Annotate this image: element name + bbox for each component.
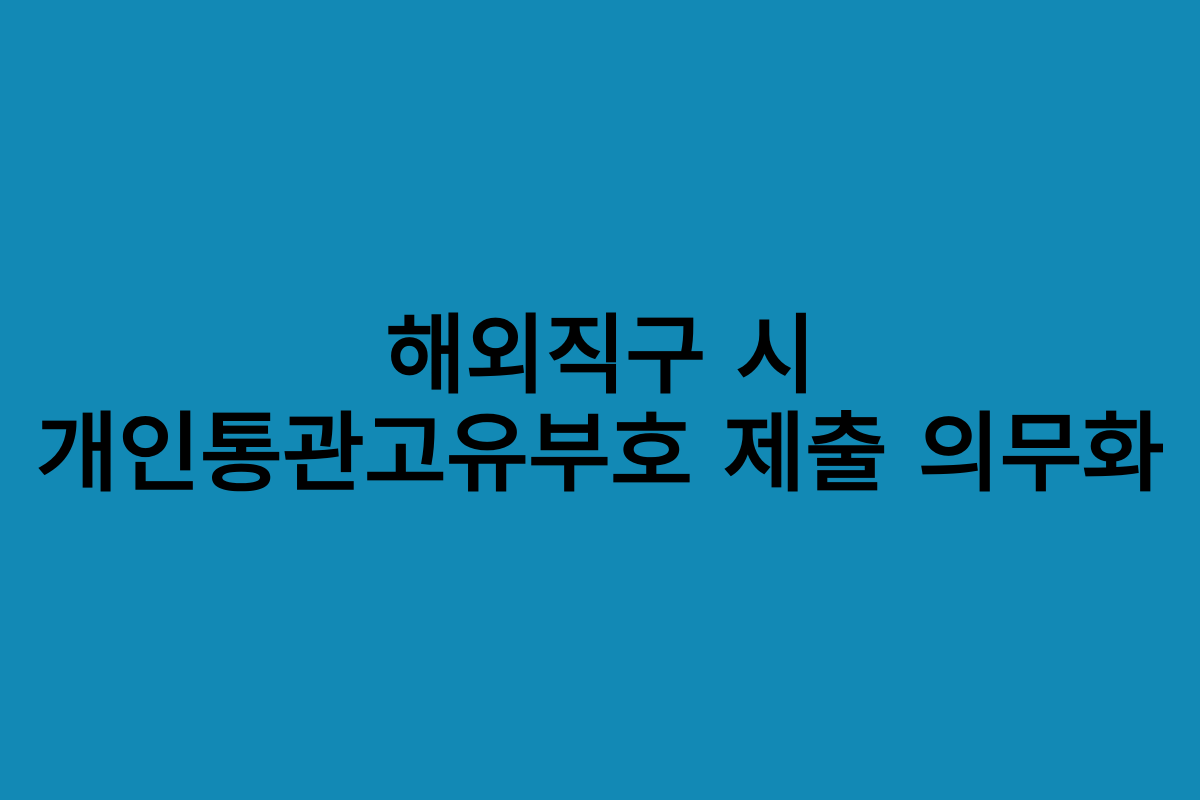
banner-canvas: 해외직구 시 개인통관고유부호 제출 의무화 bbox=[0, 0, 1200, 800]
headline-line-2: 개인통관고유부호 제출 의무화 bbox=[36, 411, 1164, 497]
headline-block: 해외직구 시 개인통관고유부호 제출 의무화 bbox=[0, 313, 1200, 497]
headline-line-1: 해외직구 시 bbox=[385, 313, 815, 399]
